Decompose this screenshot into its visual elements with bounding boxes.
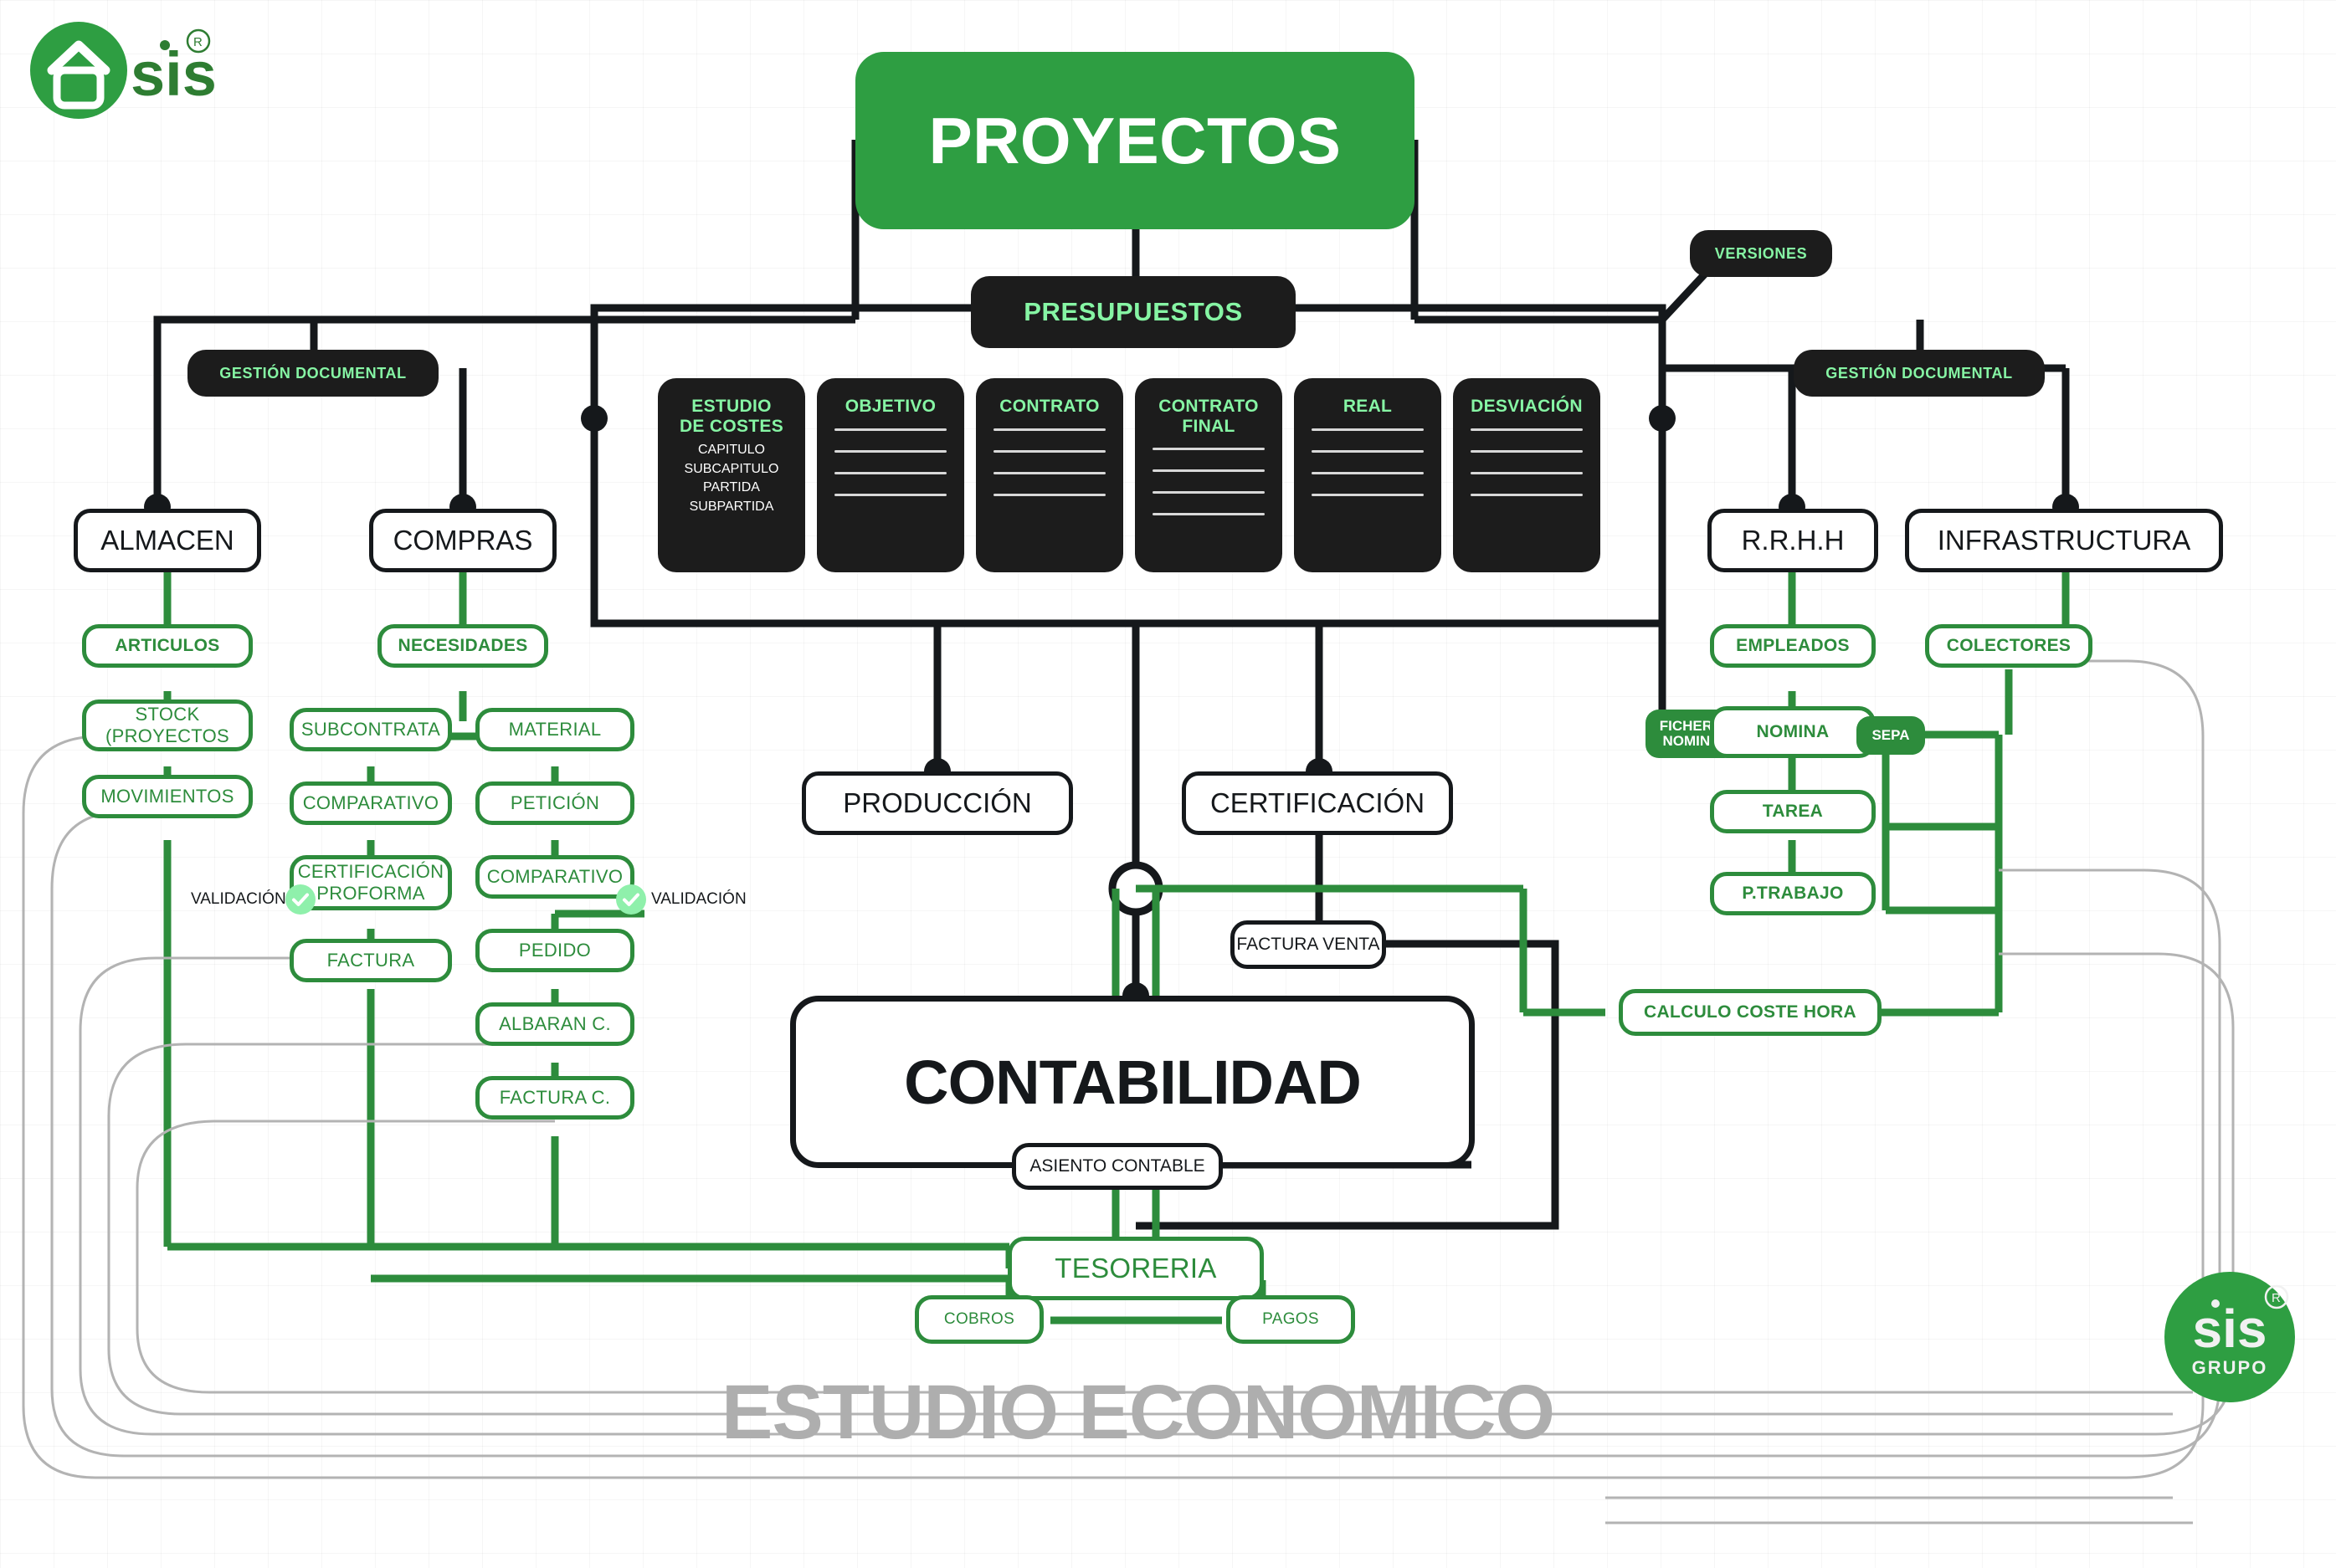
node-movimientos[interactable]: MOVIMIENTOS <box>82 775 253 818</box>
node-factura-subcontrata[interactable]: FACTURA <box>290 939 452 982</box>
factura-c-label: FACTURA C. <box>500 1087 611 1109</box>
node-empleados[interactable]: EMPLEADOS <box>1710 624 1876 668</box>
card-title: OBJETIVO <box>845 397 937 417</box>
card-rules <box>1471 428 1583 515</box>
cobros-label: COBROS <box>944 1310 1014 1329</box>
gestion-documental-right-label: GESTIÓN DOCUMENTAL <box>1825 365 2012 382</box>
node-comparativo-material[interactable]: COMPARATIVO <box>475 855 634 899</box>
calculo-coste-hora-label: CALCULO COSTE HORA <box>1644 1002 1856 1022</box>
asiento-contable-label: ASIENTO CONTABLE <box>1029 1156 1204 1176</box>
proyectos-label: PROYECTOS <box>929 108 1342 173</box>
node-gestion-documental-right[interactable]: GESTIÓN DOCUMENTAL <box>1794 350 2045 397</box>
node-infraestructura[interactable]: INFRASTRUCTURA <box>1905 509 2223 572</box>
node-comparativo-subcontrata[interactable]: COMPARATIVO <box>290 781 452 825</box>
node-proyectos[interactable]: PROYECTOS <box>855 52 1414 229</box>
material-label: MATERIAL <box>509 719 602 740</box>
svg-text:R: R <box>2272 1291 2281 1305</box>
comparativo-label: COMPARATIVO <box>487 866 624 888</box>
node-produccion[interactable]: PRODUCCIÓN <box>802 771 1073 835</box>
necesidades-label: NECESIDADES <box>398 636 528 656</box>
card-contrato[interactable]: CONTRATO <box>976 378 1123 572</box>
card-title: REAL <box>1343 397 1392 417</box>
svg-text:GRUPO: GRUPO <box>2192 1357 2268 1378</box>
node-pedido[interactable]: PEDIDO <box>475 929 634 972</box>
infraestructura-label: INFRASTRUCTURA <box>1938 525 2191 556</box>
almacen-label: ALMACEN <box>100 525 234 556</box>
pedido-label: PEDIDO <box>519 940 591 961</box>
validacion-right-label: VALIDACIÓN <box>651 890 747 909</box>
sis-grupo-logo-bottom: sis GRUPO R <box>2153 1263 2308 1418</box>
comparativo-label: COMPARATIVO <box>303 792 439 814</box>
svg-text:sis: sis <box>2193 1299 2267 1359</box>
versiones-label: VERSIONES <box>1715 245 1807 263</box>
card-title: CONTRATO <box>999 397 1099 417</box>
rrhh-label: R.R.H.H <box>1742 525 1845 556</box>
node-colectores[interactable]: COLECTORES <box>1925 624 2092 668</box>
node-factura-venta[interactable]: FACTURA VENTA <box>1230 920 1386 969</box>
node-gestion-documental-left[interactable]: GESTIÓN DOCUMENTAL <box>187 350 439 397</box>
subcontrata-label: SUBCONTRATA <box>301 719 440 740</box>
node-tarea[interactable]: TAREA <box>1710 790 1876 833</box>
produccion-label: PRODUCCIÓN <box>843 787 1032 819</box>
validation-check-icon-right <box>616 884 646 915</box>
contabilidad-label: CONTABILIDAD <box>904 1047 1361 1118</box>
card-rules <box>834 428 947 515</box>
card-objetivo[interactable]: OBJETIVO <box>817 378 964 572</box>
factura-label: FACTURA <box>327 950 415 971</box>
gestion-documental-left-label: GESTIÓN DOCUMENTAL <box>219 365 406 382</box>
footer-title: ESTUDIO ECONOMICO <box>721 1369 1554 1457</box>
diagram-canvas: sis R sis GRUPO R PROYECTOS PRESUPUESTOS… <box>0 0 2336 1568</box>
card-rules <box>993 428 1106 515</box>
node-articulos[interactable]: ARTICULOS <box>82 624 253 668</box>
node-subcontrata[interactable]: SUBCONTRATA <box>290 708 452 751</box>
card-rules <box>1312 428 1424 515</box>
node-pagos[interactable]: PAGOS <box>1226 1295 1355 1344</box>
articulos-label: ARTICULOS <box>115 636 219 656</box>
node-albaran-c[interactable]: ALBARAN C. <box>475 1002 634 1046</box>
card-estudio-de-costes[interactable]: ESTUDIODE COSTES CAPITULOSUBCAPITULOPART… <box>658 378 805 572</box>
node-certificacion[interactable]: CERTIFICACIÓN <box>1182 771 1453 835</box>
card-title: DESVIACIÓN <box>1471 397 1583 417</box>
validation-check-icon-left <box>285 884 316 915</box>
node-peticion[interactable]: PETICIÓN <box>475 781 634 825</box>
node-sepa[interactable]: SEPA <box>1856 716 1925 755</box>
svg-text:R: R <box>193 35 203 49</box>
node-factura-c[interactable]: FACTURA C. <box>475 1076 634 1120</box>
albaran-c-label: ALBARAN C. <box>499 1013 611 1035</box>
card-desviacion[interactable]: DESVIACIÓN <box>1453 378 1600 572</box>
node-calculo-coste-hora[interactable]: CALCULO COSTE HORA <box>1619 989 1882 1036</box>
node-p-trabajo[interactable]: P.TRABAJO <box>1710 872 1876 915</box>
sepa-label: SEPA <box>1871 728 1909 743</box>
pagos-label: PAGOS <box>1262 1310 1319 1329</box>
compras-label: COMPRAS <box>393 525 533 556</box>
card-title: CONTRATOFINAL <box>1158 397 1258 436</box>
empleados-label: EMPLEADOS <box>1736 636 1850 656</box>
factura-venta-label: FACTURA VENTA <box>1236 935 1379 955</box>
movimientos-label: MOVIMIENTOS <box>100 786 234 807</box>
sis-logo-top: sis R <box>23 18 308 127</box>
node-cobros[interactable]: COBROS <box>915 1295 1044 1344</box>
card-contrato-final[interactable]: CONTRATOFINAL <box>1135 378 1282 572</box>
node-nomina[interactable]: NOMINA <box>1710 706 1876 758</box>
stock-proyectos-label: STOCK(PROYECTOS <box>105 704 229 747</box>
tesoreria-label: TESORERIA <box>1055 1253 1216 1284</box>
nomina-label: NOMINA <box>1757 722 1830 742</box>
node-necesidades[interactable]: NECESIDADES <box>377 624 548 668</box>
peticion-label: PETICIÓN <box>511 792 599 814</box>
node-rrhh[interactable]: R.R.H.H <box>1707 509 1878 572</box>
colectores-label: COLECTORES <box>1947 636 2071 656</box>
card-real[interactable]: REAL <box>1294 378 1441 572</box>
node-stock-proyectos[interactable]: STOCK(PROYECTOS <box>82 699 253 751</box>
node-presupuestos[interactable]: PRESUPUESTOS <box>971 276 1296 348</box>
node-almacen[interactable]: ALMACEN <box>74 509 261 572</box>
card-sublines: CAPITULOSUBCAPITULOPARTIDASUBPARTIDA <box>685 441 779 517</box>
tarea-label: TAREA <box>1763 802 1823 822</box>
card-title: ESTUDIODE COSTES <box>680 397 783 436</box>
node-tesoreria[interactable]: TESORERIA <box>1008 1237 1264 1300</box>
p-trabajo-label: P.TRABAJO <box>1742 884 1843 904</box>
presupuestos-label: PRESUPUESTOS <box>1024 297 1243 327</box>
certificacion-proforma-label: CERTIFICACIÓNPROFORMA <box>298 861 444 904</box>
node-compras[interactable]: COMPRAS <box>369 509 557 572</box>
node-versiones[interactable]: VERSIONES <box>1690 230 1832 277</box>
node-material[interactable]: MATERIAL <box>475 708 634 751</box>
validacion-left-label: VALIDACIÓN <box>191 890 286 909</box>
node-asiento-contable[interactable]: ASIENTO CONTABLE <box>1012 1143 1223 1190</box>
certificacion-label: CERTIFICACIÓN <box>1210 787 1425 819</box>
card-rules <box>1153 448 1265 535</box>
